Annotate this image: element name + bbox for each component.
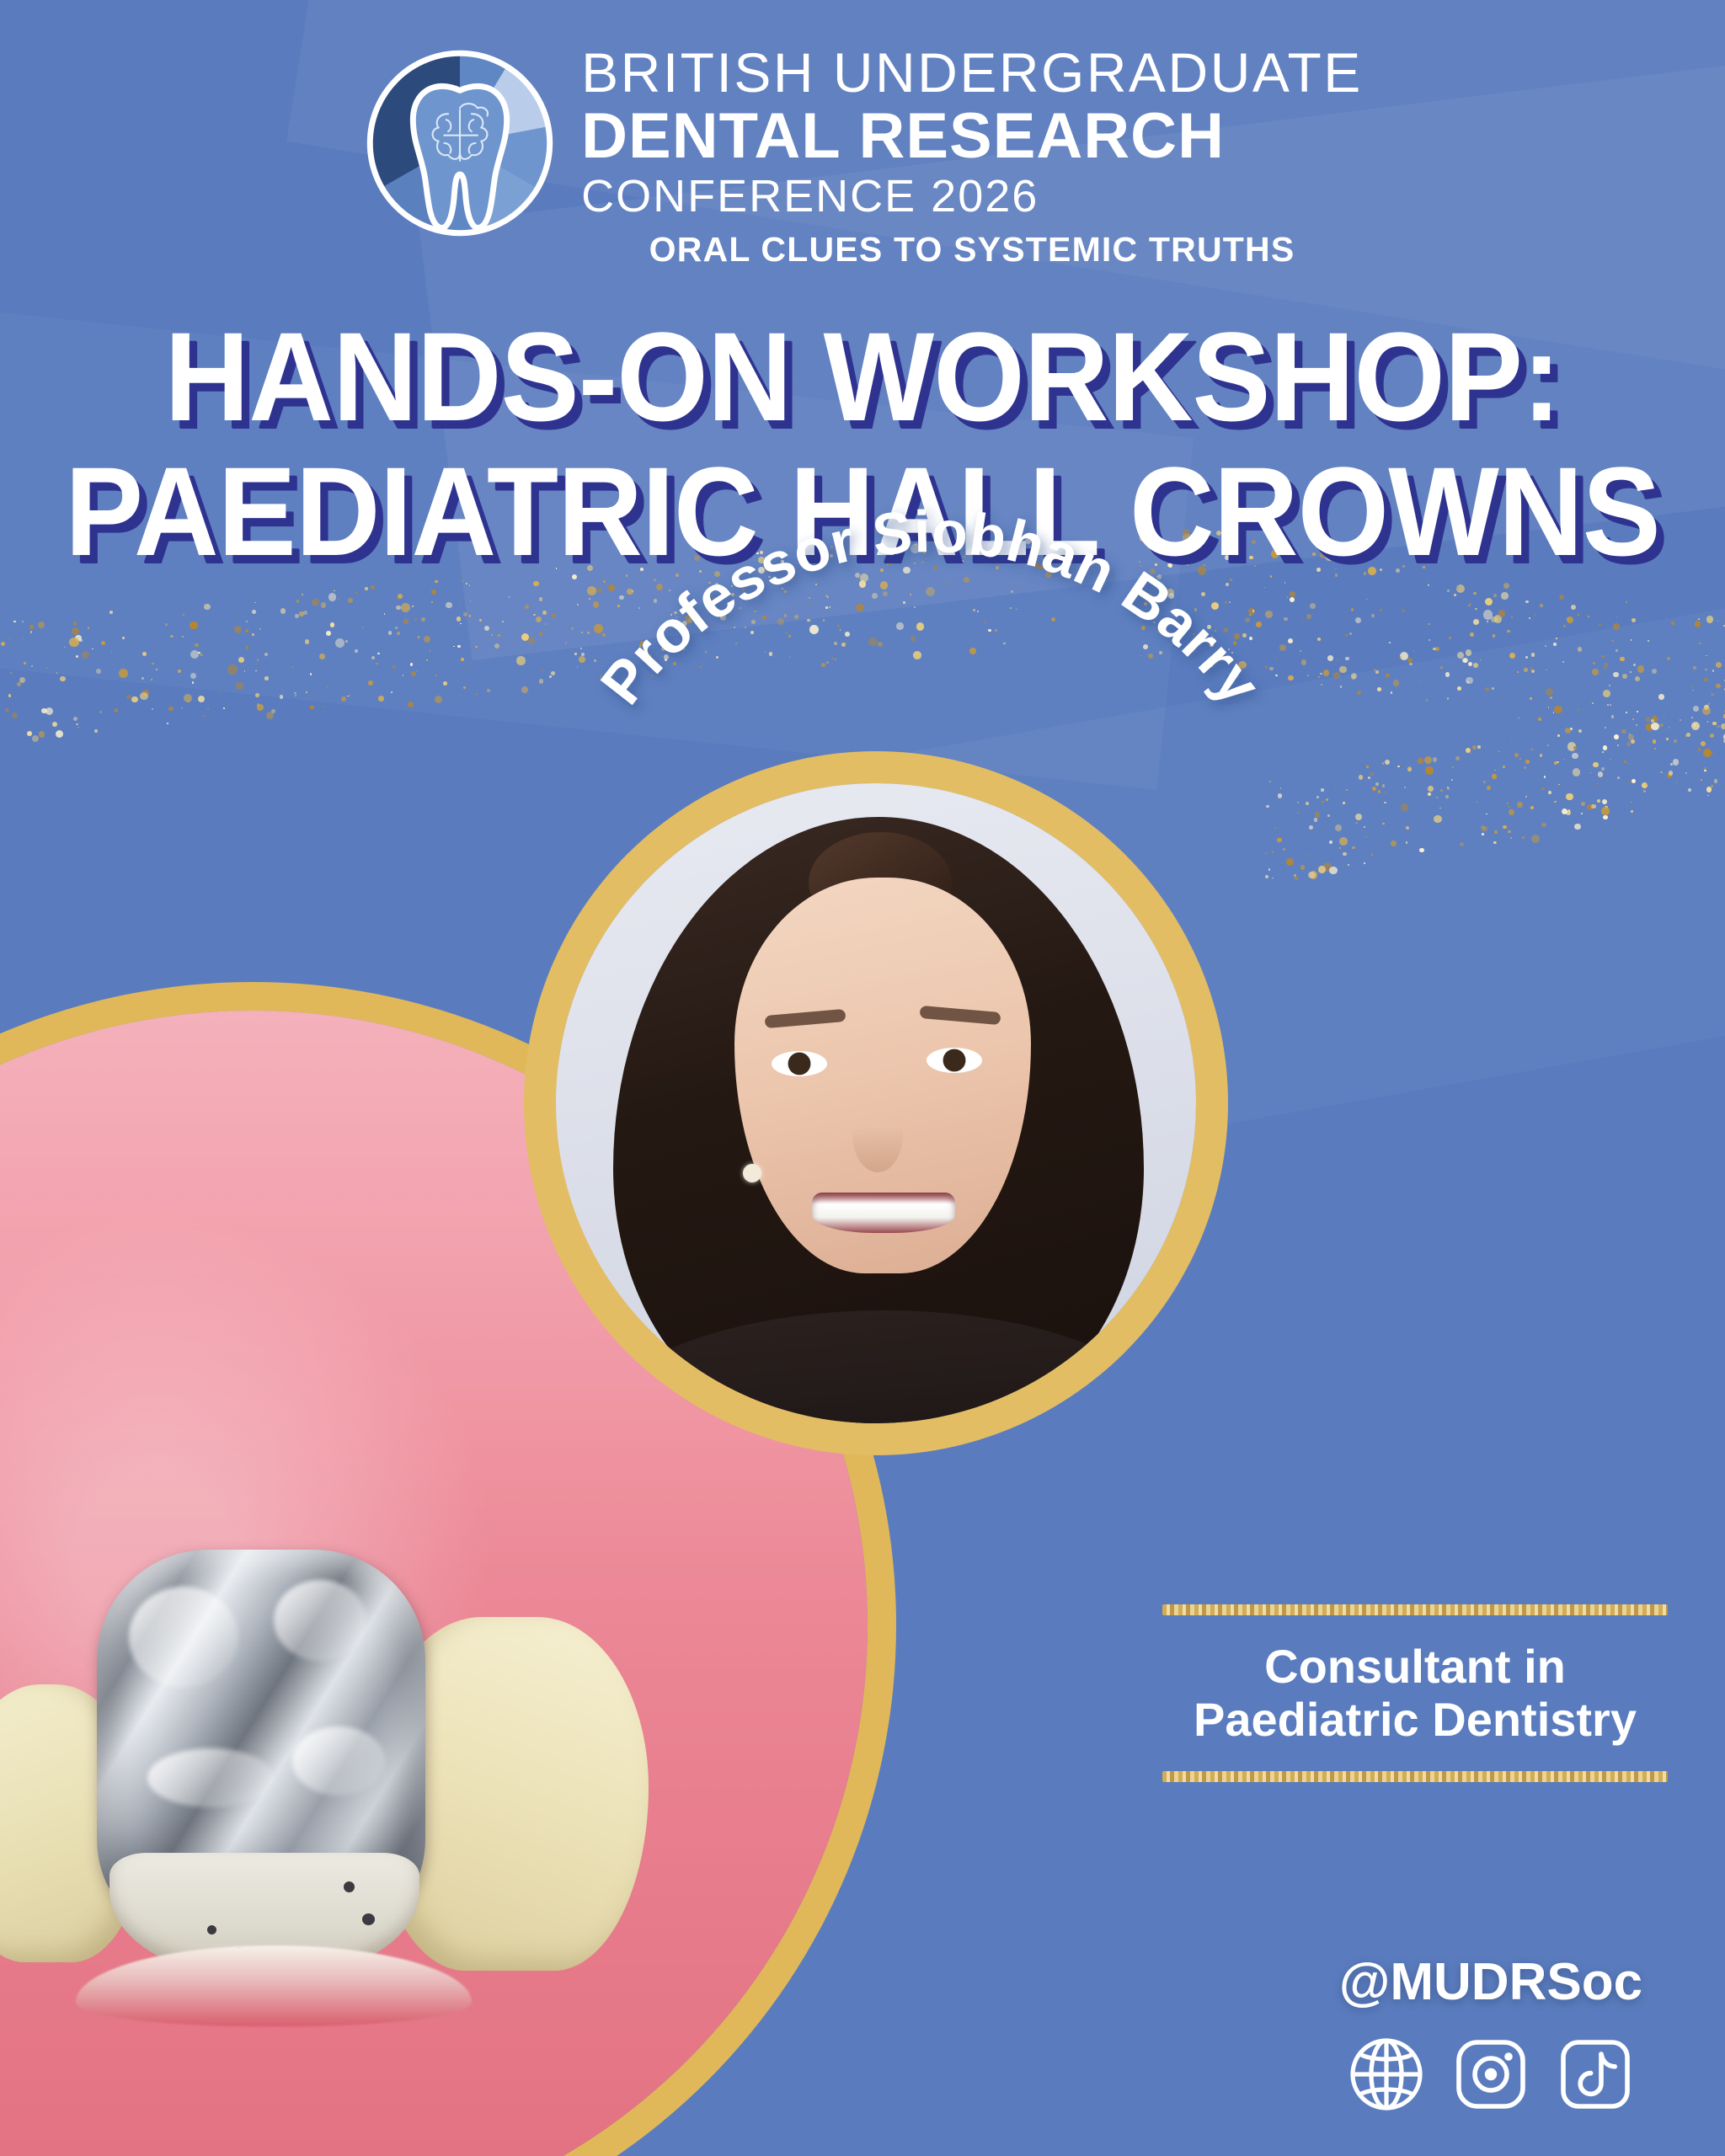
gingival-margin xyxy=(76,1945,472,2026)
social-handle: @MUDRSoc xyxy=(1297,1952,1685,2012)
brand-line-dental-research: DENTAL RESEARCH xyxy=(581,104,1363,169)
brand-line-british: BRITISH UNDERGRADUATE xyxy=(581,45,1363,100)
gold-glitter-decoration xyxy=(1137,522,1725,775)
title-line-2: PAEDIATRIC HALL CROWNS xyxy=(61,448,1665,574)
speaker-role-text: Consultant in Paediatric Dentistry xyxy=(1162,1641,1668,1746)
social-block: @MUDRSoc xyxy=(1297,1952,1685,2115)
portrait-eye-left xyxy=(772,1051,827,1076)
workshop-title: HANDS-ON WORKSHOP: PAEDIATRIC HALL CROWN… xyxy=(0,313,1725,574)
gold-divider-bottom xyxy=(1162,1771,1668,1782)
speaker-role-block: Consultant in Paediatric Dentistry xyxy=(1162,1604,1668,1782)
portrait-mouth xyxy=(812,1193,955,1233)
social-icon-row xyxy=(1297,2034,1685,2115)
brand-tagline: ORAL CLUES TO SYSTEMIC TRUTHS xyxy=(581,232,1363,268)
brand-line-conference-year: CONFERENCE 2026 xyxy=(581,173,1363,220)
title-line-1: HANDS-ON WORKSHOP: xyxy=(61,313,1665,440)
globe-icon[interactable] xyxy=(1346,2034,1427,2115)
gold-divider-top xyxy=(1162,1604,1668,1615)
speaker-name-text: Professor Siobhan Barry xyxy=(588,499,1274,716)
role-line-2: Paediatric Dentistry xyxy=(1162,1694,1668,1747)
role-line-1: Consultant in xyxy=(1162,1641,1668,1694)
conference-branding-header: BRITISH UNDERGRADUATE DENTAL RESEARCH CO… xyxy=(0,34,1725,268)
instagram-icon[interactable] xyxy=(1450,2034,1531,2115)
gold-glitter-decoration xyxy=(0,522,1053,741)
portrait-earring xyxy=(743,1164,761,1182)
poster-canvas: BRITISH UNDERGRADUATE DENTAL RESEARCH CO… xyxy=(0,0,1725,2156)
portrait-eye-right xyxy=(927,1048,982,1073)
conference-wordmark: BRITISH UNDERGRADUATE DENTAL RESEARCH CO… xyxy=(581,34,1363,268)
tooth-brain-circle-logo-icon xyxy=(362,45,558,241)
tiktok-icon[interactable] xyxy=(1555,2034,1636,2115)
speaker-portrait xyxy=(556,783,1196,1423)
background-band xyxy=(0,288,1194,789)
gold-glitter-decoration xyxy=(1263,699,1725,884)
svg-text:Professor Siobhan Barry: Professor Siobhan Barry xyxy=(588,499,1274,716)
portrait-nose xyxy=(852,1097,903,1172)
